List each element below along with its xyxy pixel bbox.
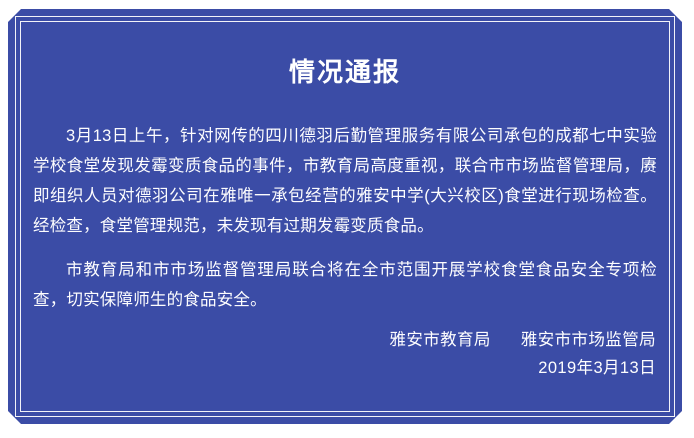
signature-date: 2019年3月13日 [389, 354, 656, 382]
body-paragraph-1: 3月13日上午，针对网传的四川德羽后勤管理服务有限公司承包的成都七中实验学校食堂… [33, 121, 657, 241]
signature-organizations: 雅安市教育局 雅安市市场监管局 [389, 326, 656, 354]
notice-content: 情况通报 3月13日上午，针对网传的四川德羽后勤管理服务有限公司承包的成都七中实… [8, 9, 682, 424]
signature-org-education-bureau: 雅安市教育局 [389, 331, 490, 349]
document-page: 情况通报 3月13日上午，针对网传的四川德羽后勤管理服务有限公司承包的成都七中实… [0, 0, 694, 438]
body-paragraph-2: 市教育局和市市场监督管理局联合将在全市范围开展学校食堂食品安全专项检查，切实保障… [33, 255, 657, 315]
page-title: 情况通报 [32, 9, 658, 85]
notice-panel: 情况通报 3月13日上午，针对网传的四川德羽后勤管理服务有限公司承包的成都七中实… [8, 9, 682, 424]
notice-body: 3月13日上午，针对网传的四川德羽后勤管理服务有限公司承包的成都七中实验学校食堂… [32, 121, 658, 315]
signature-org-market-supervision: 雅安市市场监管局 [521, 331, 656, 349]
signature-block: 雅安市教育局 雅安市市场监管局 2019年3月13日 [389, 326, 656, 382]
